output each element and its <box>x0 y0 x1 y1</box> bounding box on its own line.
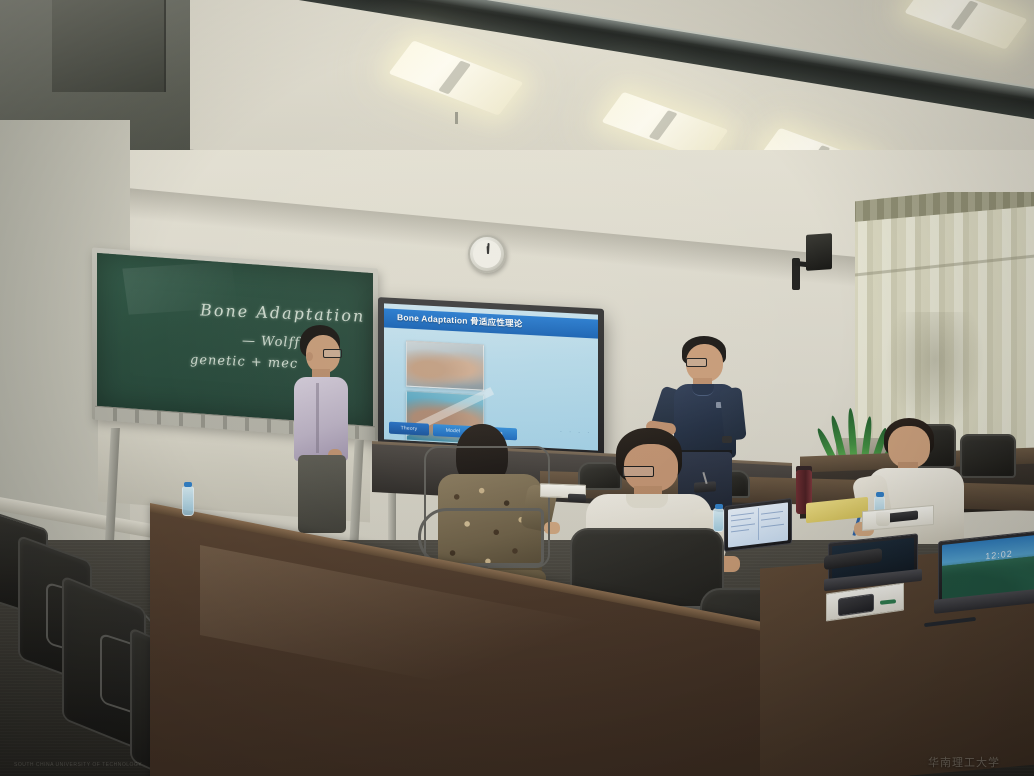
tablet-text-line <box>731 518 751 522</box>
curtain-shadow <box>885 312 985 432</box>
tablet-text-line <box>761 511 783 515</box>
tablet-text-line <box>731 513 754 517</box>
bottle-cap <box>876 492 884 497</box>
window-curtains <box>855 192 1034 454</box>
tablet-device[interactable] <box>724 502 790 550</box>
tablet-body <box>724 498 792 552</box>
torso-lavender-shirt <box>294 377 348 461</box>
glasses <box>622 466 654 477</box>
wall-clock <box>468 235 506 273</box>
tablet-text-line <box>761 518 780 521</box>
clock-minute-hand <box>487 243 489 254</box>
glasses <box>323 349 342 358</box>
chair-armrest <box>418 508 544 566</box>
water-bottle[interactable] <box>182 486 194 516</box>
watermark-subtext: SOUTH CHINA UNIVERSITY OF TECHNOLOGY <box>14 762 142 768</box>
polo-collar <box>692 384 714 396</box>
tablet-text-line <box>761 524 784 528</box>
right-arm <box>719 387 746 441</box>
legs-trousers <box>298 455 346 533</box>
person-presenter-at-board <box>282 325 354 533</box>
laptop-computer[interactable]: 12:02 <box>938 536 1034 610</box>
wall-speaker <box>806 233 832 271</box>
ear <box>306 352 313 361</box>
shirt-collar <box>626 494 668 508</box>
tablet-center-divider <box>758 508 759 540</box>
upper-left-wall-panel <box>52 0 166 92</box>
slide-tab-theory[interactable]: Theory <box>389 422 429 436</box>
ceiling-hook <box>455 112 458 124</box>
tablet-text-line <box>731 529 749 532</box>
wristwatch <box>722 436 732 443</box>
shirt-fold <box>316 383 319 453</box>
paper-cup[interactable] <box>876 512 890 526</box>
glasses <box>686 358 707 367</box>
bottle-cap <box>184 482 192 487</box>
water-bottle[interactable] <box>713 508 724 532</box>
slide-image-foot-xray <box>406 341 484 391</box>
bottle-cap <box>715 504 723 509</box>
seminar-room-photo: Bone Adaptation — Wolff genetic + mec Bo… <box>0 0 1034 776</box>
clock-face <box>473 240 501 268</box>
watermark-text: 华南理工大学 <box>928 754 1000 770</box>
tablet-screen[interactable] <box>728 502 788 547</box>
tablet-text-line <box>731 523 755 527</box>
conference-microphone[interactable] <box>568 494 586 503</box>
